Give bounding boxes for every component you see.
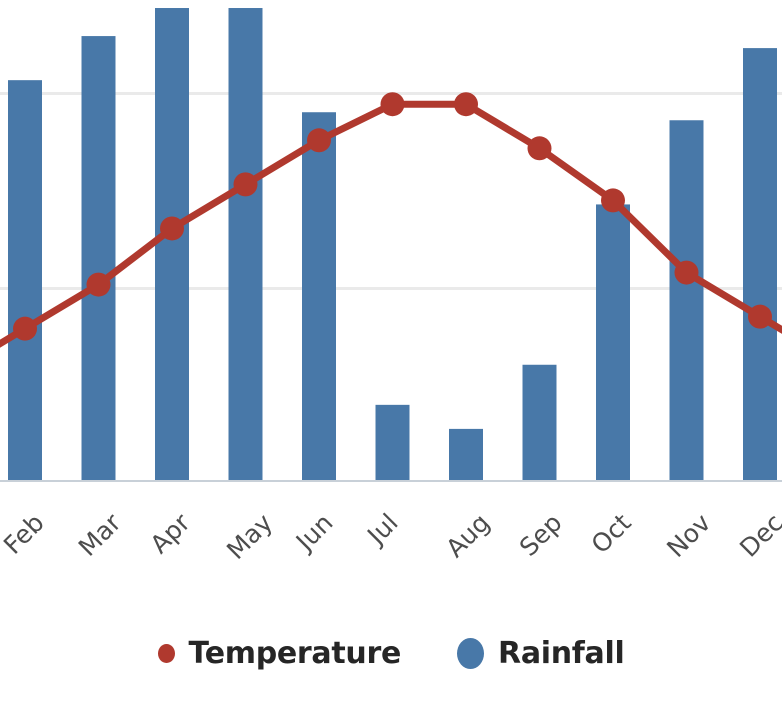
temperature-marker-nov[interactable]	[675, 261, 699, 285]
legend-item-rainfall[interactable]: Rainfall	[457, 636, 624, 671]
bar-apr[interactable]	[155, 8, 189, 481]
bar-jul[interactable]	[376, 405, 410, 481]
bar-sep[interactable]	[523, 365, 557, 481]
x-label-nov: Nov	[661, 508, 716, 563]
bar-may[interactable]	[229, 8, 263, 481]
bar-nov[interactable]	[670, 120, 704, 481]
legend-item-temperature[interactable]: Temperature	[158, 636, 402, 671]
temperature-marker-jul[interactable]	[381, 92, 405, 116]
temperature-marker-sep[interactable]	[528, 136, 552, 160]
temperature-legend-dot	[158, 644, 175, 663]
legend-label-temperature: Temperature	[189, 636, 402, 671]
chart-legend: Temperature Rainfall	[0, 618, 782, 688]
x-label-sep: Sep	[513, 508, 567, 562]
temperature-line	[0, 104, 782, 373]
bar-jun[interactable]	[302, 112, 336, 481]
temperature-marker-feb[interactable]	[13, 317, 37, 341]
bar-dec[interactable]	[743, 48, 777, 481]
temperature-marker-aug[interactable]	[454, 92, 478, 116]
x-axis-labels: FebMarAprMayJunJulAugSepOctNovDec	[0, 482, 782, 612]
bar-mar[interactable]	[82, 36, 116, 481]
x-label-jul: Jul	[361, 508, 403, 550]
line-series-temperature	[0, 92, 782, 373]
legend-label-rainfall: Rainfall	[498, 636, 624, 671]
bar-oct[interactable]	[596, 204, 630, 481]
x-label-feb: Feb	[0, 508, 50, 560]
x-label-oct: Oct	[586, 508, 637, 559]
x-label-may: May	[221, 508, 278, 565]
bar-aug[interactable]	[449, 429, 483, 481]
x-label-jun: Jun	[290, 508, 338, 556]
plot-area	[0, 0, 782, 482]
x-label-mar: Mar	[72, 508, 126, 562]
rainfall-legend-dot	[457, 638, 484, 669]
temperature-marker-mar[interactable]	[87, 273, 111, 297]
temperature-marker-oct[interactable]	[601, 188, 625, 212]
x-label-aug: Aug	[440, 508, 495, 563]
x-label-dec: Dec	[734, 508, 782, 563]
temperature-marker-dec[interactable]	[748, 305, 772, 329]
temperature-marker-may[interactable]	[234, 172, 258, 196]
x-label-apr: Apr	[145, 508, 196, 559]
temperature-marker-apr[interactable]	[160, 216, 184, 240]
bar-feb[interactable]	[8, 80, 42, 481]
gridlines	[0, 94, 782, 289]
chart-page: FebMarAprMayJunJulAugSepOctNovDec Temper…	[0, 0, 782, 720]
temperature-marker-jun[interactable]	[307, 128, 331, 152]
